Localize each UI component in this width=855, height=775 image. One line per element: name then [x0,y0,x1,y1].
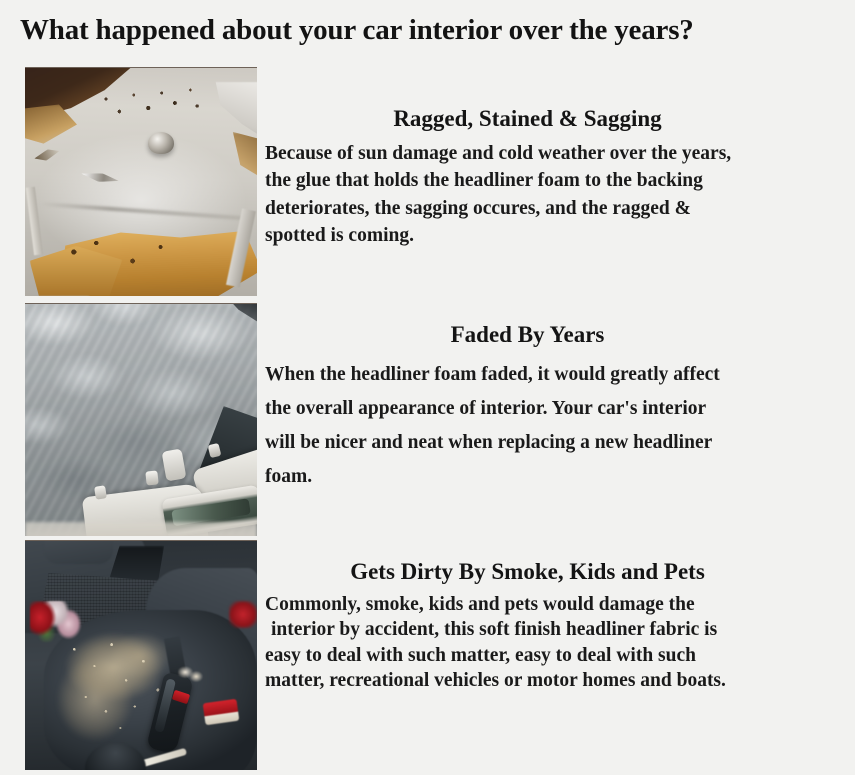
body-line: the glue that holds the headliner foam t… [265,167,790,195]
body-line: When the headliner foam faded, it would … [265,358,790,392]
section-text-column: Ragged, Stained & Sagging Because of sun… [265,105,790,250]
product-description-page: What happened about your car interior ov… [0,0,855,775]
body-line: Because of sun damage and cold weather o… [265,140,790,168]
dirty-seat-illustration [25,541,257,770]
ragged-headliner-illustration [25,68,257,296]
section-heading: Ragged, Stained & Sagging [265,105,790,133]
body-line: matter, recreational vehicles or motor h… [265,668,790,694]
section-body: When the headliner foam faded, it would … [265,358,790,494]
section-heading: Faded By Years [265,321,790,349]
headliner-tear-center [80,170,119,185]
body-line: interior by accident, this soft finish h… [265,617,790,643]
headliner-tear-left [33,146,61,165]
seat-headrest [44,541,114,564]
photo-dirty-seat [25,540,257,770]
section-heading: Gets Dirty By Smoke, Kids and Pets [265,558,790,586]
dashboard-edge [25,522,257,536]
page-title: What happened about your car interior ov… [20,14,830,47]
photo-ragged-headliner [25,67,257,296]
headliner-strip-left [25,186,42,255]
body-line: foam. [265,460,790,494]
section-ragged-stained-sagging: Ragged, Stained & Sagging Because of sun… [0,67,855,296]
section-faded-by-years: Faded By Years When the headliner foam f… [0,303,855,536]
body-line: spotted is coming. [265,222,790,250]
photo-faded-headliner [25,303,257,536]
body-line: Commonly, smoke, kids and pets would dam… [265,592,790,618]
visor-clip-left [94,485,107,500]
headliner-exposed-foam-left [25,104,85,154]
scattered-toy-right [229,601,257,628]
section-gets-dirty: Gets Dirty By Smoke, Kids and Pets Commo… [0,540,855,770]
body-line: easy to deal with such matter, easy to d… [265,643,790,669]
visor-clip-center [145,470,158,485]
faded-headliner-illustration [25,304,257,536]
headliner-stain-specks [95,84,206,134]
headliner-dome-knob [148,132,174,154]
body-line: the overall appearance of interior. Your… [265,392,790,426]
food-crumbs [178,665,204,683]
section-body: Commonly, smoke, kids and pets would dam… [265,592,790,694]
headliner-exposed-foam-right [215,132,257,196]
body-line: will be nicer and neat when replacing a … [265,426,790,460]
headliner-sag-fold [39,202,243,220]
section-text-column: Gets Dirty By Smoke, Kids and Pets Commo… [265,558,790,694]
body-line: deteriorates, the sagging occures, and t… [265,195,790,223]
headliner-foam-holes [57,232,196,282]
section-body: Because of sun damage and cold weather o… [265,140,790,250]
section-text-column: Faded By Years When the headliner foam f… [265,321,790,494]
scattered-toys-left [30,601,86,642]
